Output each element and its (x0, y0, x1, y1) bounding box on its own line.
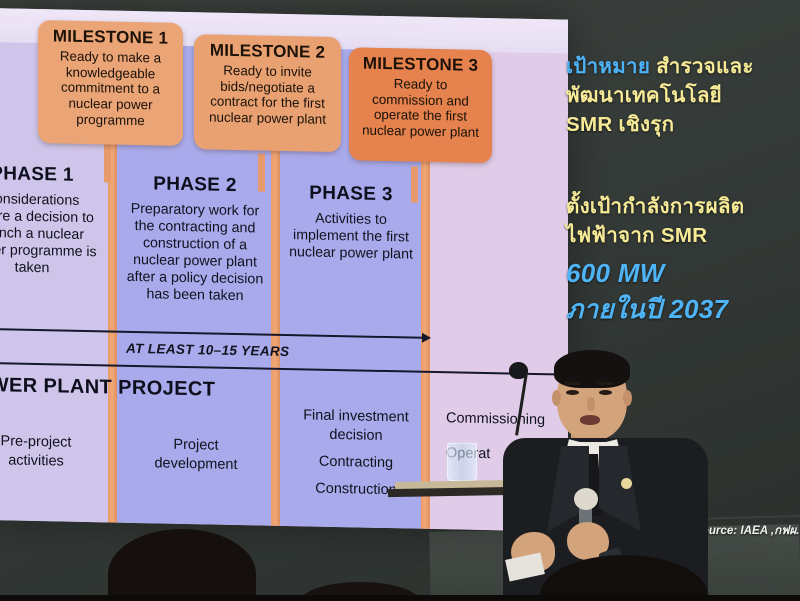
water-glass (447, 443, 477, 481)
overlay-heading-goal: เป้าหมาย สำรวจและ พัฒนาเทคโนโลยี SMR เชิ… (566, 52, 754, 139)
milestone-1-text: Ready to make a knowledgeable commitment… (46, 48, 175, 129)
project-cell-2: Project development (128, 435, 264, 476)
overlay-goal-line2: พัฒนาเทคโนโลยี (566, 81, 754, 110)
project-cell-1-line-1: Pre-project (0, 432, 104, 454)
project-cell-3-line-2: decision (286, 425, 426, 447)
milestone-box-2: MILESTONE 2 Ready to invite bids/negotia… (194, 34, 341, 152)
phase-3-text: Activities to implement the first nuclea… (286, 210, 416, 264)
phase-2-text: Preparatory work for the contracting and… (122, 201, 268, 306)
phase-block-1: PHASE 1 Considerations before a decision… (0, 163, 100, 279)
overlay-goal-line1: สำรวจและ (656, 55, 753, 78)
project-cell-3-line-1: Final investment (286, 406, 426, 428)
speaker-lapel-pin (621, 478, 632, 489)
speaker-ear-left (552, 390, 561, 406)
timeline-arrow-head (422, 333, 431, 343)
phase-1-text: Considerations before a decision to laun… (0, 191, 100, 279)
foreground-shadow (0, 595, 800, 601)
speaker-ear-right (623, 390, 632, 406)
phase-1-title: PHASE 1 (0, 163, 100, 188)
overlay-goal-line3: SMR เชิงรุก (566, 110, 754, 139)
overlay-target-line2: ไฟฟ้าจาก SMR (566, 221, 744, 250)
project-cell-1-line-2: activities (0, 451, 104, 473)
screenshot-stage: MILESTONE 1 Ready to make a knowledgeabl… (0, 0, 800, 601)
project-cell-2-line-2: development (128, 454, 264, 476)
milestone-box-3: MILESTONE 3 Ready to commission and oper… (349, 47, 492, 163)
speaker-brow-right (598, 382, 614, 385)
milestone-stem-1 (104, 140, 111, 182)
milestone-box-1: MILESTONE 1 Ready to make a knowledgeabl… (38, 20, 183, 146)
project-cell-1: Pre-project activities (0, 432, 104, 473)
milestone-2-title: MILESTONE 2 (202, 40, 333, 62)
milestone-3-title: MILESTONE 3 (357, 53, 484, 75)
phase-block-2: PHASE 2 Preparatory work for the contrac… (122, 173, 268, 306)
phase-block-3: PHASE 3 Activities to implement the firs… (286, 182, 416, 264)
project-title: POWER PLANT PROJECT (0, 373, 215, 401)
speaker-eye-left (566, 390, 579, 395)
speaker-mouth (580, 415, 600, 425)
speaker-brow-left (565, 382, 581, 385)
overlay-target-line1: ตั้งเป้ากำลังการผลิต (566, 192, 744, 221)
projected-slide: MILESTONE 1 Ready to make a knowledgeabl… (0, 8, 568, 532)
phase-2-title: PHASE 2 (122, 173, 268, 198)
speaker-nose (587, 397, 595, 411)
milestone-3-text: Ready to commission and operate the firs… (357, 75, 484, 140)
project-cell-3-line-3: Contracting (286, 452, 426, 474)
speaker-eye-right (599, 390, 612, 395)
phase-3-title: PHASE 3 (286, 182, 416, 207)
overlay-heading-target: ตั้งเป้ากำลังการผลิต ไฟฟ้าจาก SMR 600 MW… (566, 192, 744, 328)
milestone-1-title: MILESTONE 1 (46, 26, 175, 48)
milestone-2-text: Ready to invite bids/negotiate a contrac… (202, 62, 333, 127)
handheld-microphone-head-icon (574, 488, 598, 510)
overlay-target-year: ภายในปี 2037 (566, 292, 744, 328)
overlay-capacity-value: 600 MW (566, 256, 744, 292)
overlay-goal-keyword: เป้าหมาย (566, 55, 650, 78)
